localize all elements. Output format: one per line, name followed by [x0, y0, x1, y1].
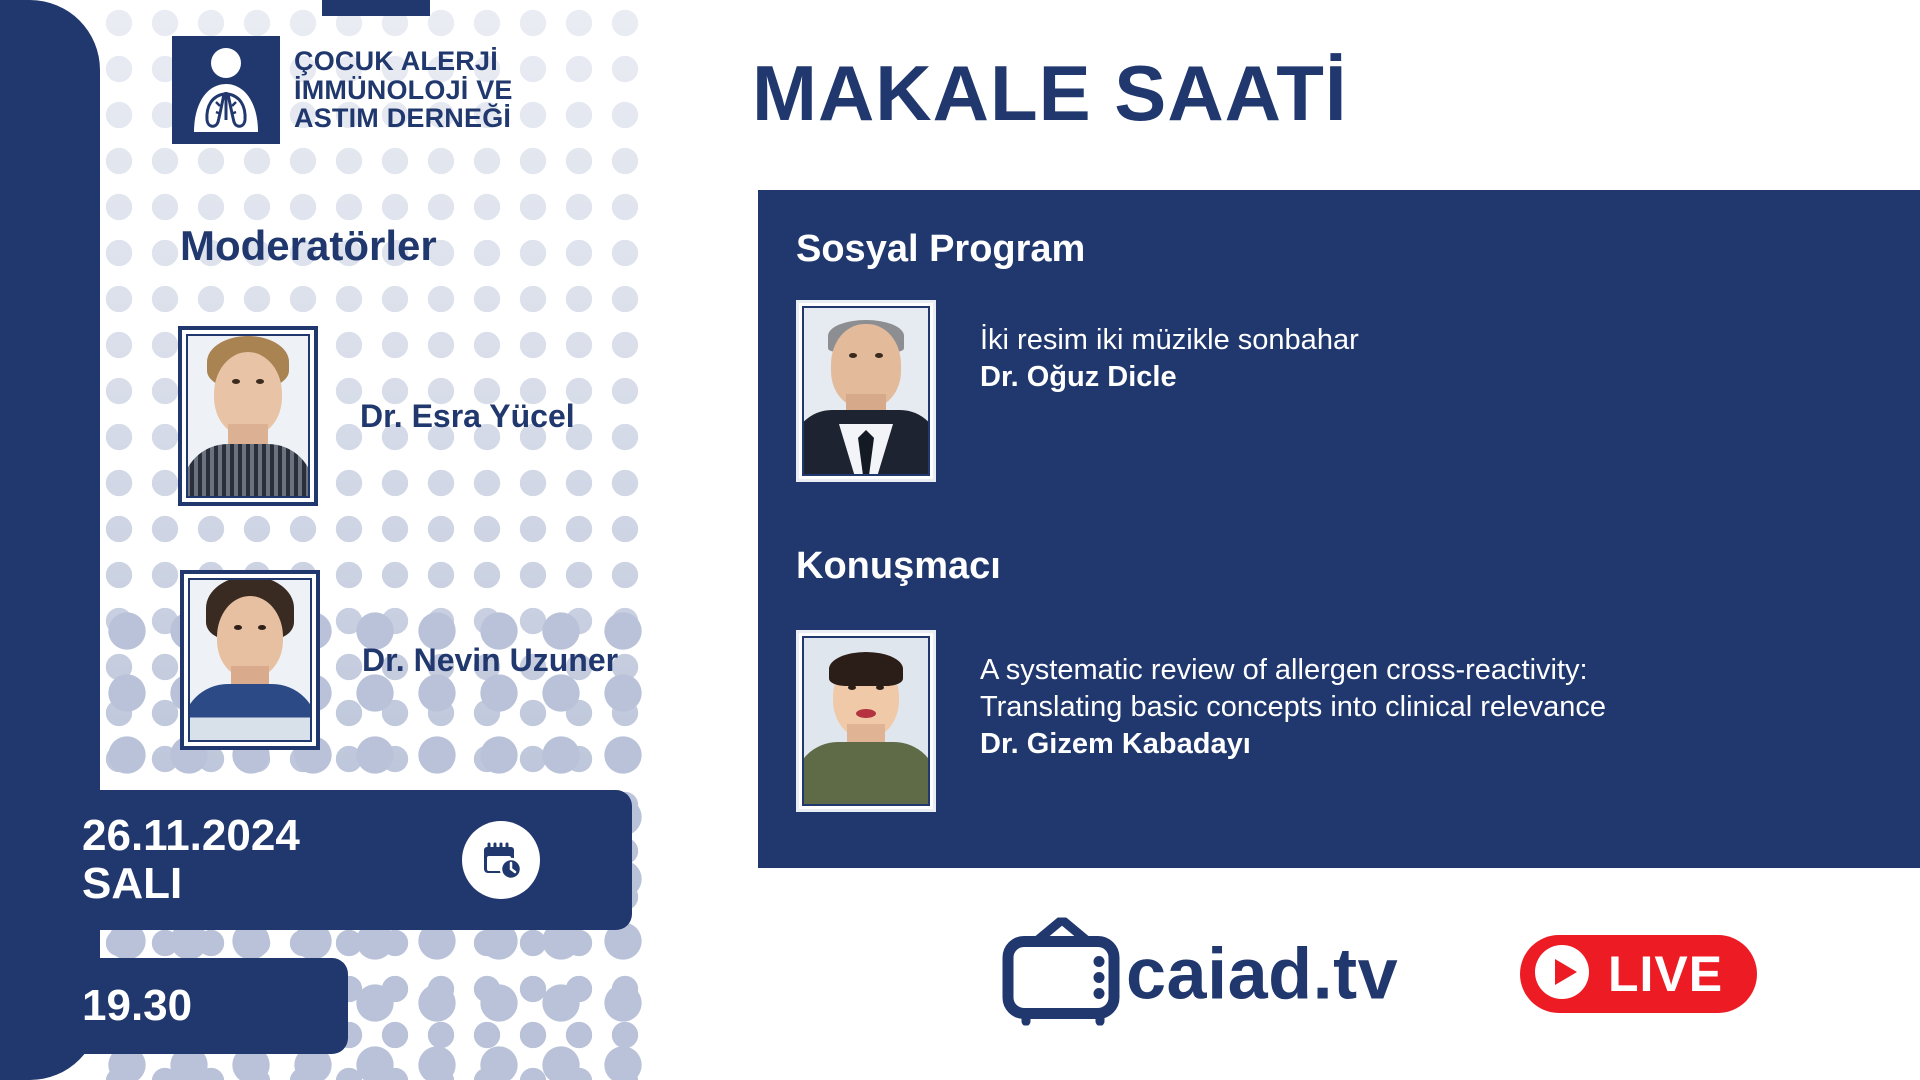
footer-brand-band: caiad.tv LIVE	[700, 868, 1805, 1080]
section-heading-konusmaci: Konuşmacı	[796, 545, 1001, 588]
play-circle-icon	[1532, 942, 1592, 1007]
avatar	[796, 300, 936, 482]
date-badge: 26.11.2024 SALI	[0, 790, 632, 930]
event-date: 26.11.2024 SALI	[82, 812, 300, 909]
program-entry-konusmaci: A systematic review of allergen cross-re…	[796, 630, 1606, 812]
program-entry-sosyal: İki resim iki müzikle sonbahar Dr. Oğuz …	[796, 300, 1359, 482]
entry-person: Dr. Gizem Kabadayı	[980, 728, 1606, 761]
poster-canvas: ÇOCUK ALERJİ İMMÜNOLOJİ VE ASTIM DERNEĞİ…	[0, 0, 1920, 1080]
moderator-item: Dr. Esra Yücel	[178, 326, 575, 506]
section-heading-sosyal-program: Sosyal Program	[796, 228, 1085, 271]
live-badge[interactable]: LIVE	[1520, 935, 1757, 1013]
page-title: MAKALE SAATİ	[752, 48, 1348, 139]
portrait-oguz-dicle	[804, 308, 928, 474]
tv-icon	[1002, 918, 1122, 1031]
live-label: LIVE	[1608, 945, 1723, 1003]
portrait-esra-yucel	[188, 336, 308, 496]
moderators-heading: Moderatörler	[180, 222, 437, 270]
avatar	[178, 326, 318, 506]
avatar	[180, 570, 320, 750]
person-lungs-icon	[172, 36, 280, 144]
moderator-name: Dr. Nevin Uzuner	[362, 642, 618, 679]
avatar	[796, 630, 936, 812]
time-badge: 19.30	[0, 958, 348, 1054]
entry-title: İki resim iki müzikle sonbahar	[980, 322, 1359, 359]
entry-person: Dr. Oğuz Dicle	[980, 361, 1359, 394]
organization-logo: ÇOCUK ALERJİ İMMÜNOLOJİ VE ASTIM DERNEĞİ	[172, 36, 513, 144]
portrait-gizem-kabadayi	[804, 638, 928, 804]
calendar-clock-icon	[462, 821, 540, 899]
moderator-item: Dr. Nevin Uzuner	[180, 570, 618, 750]
organization-name: ÇOCUK ALERJİ İMMÜNOLOJİ VE ASTIM DERNEĞİ	[294, 47, 513, 133]
portrait-nevin-uzuner	[190, 580, 310, 740]
entry-title: A systematic review of allergen cross-re…	[980, 652, 1606, 726]
channel-name: caiad.tv	[1126, 933, 1398, 1015]
top-navy-tab	[322, 0, 430, 16]
channel-logo[interactable]: caiad.tv	[1002, 918, 1398, 1031]
moderator-name: Dr. Esra Yücel	[360, 398, 575, 435]
event-time: 19.30	[82, 981, 192, 1031]
